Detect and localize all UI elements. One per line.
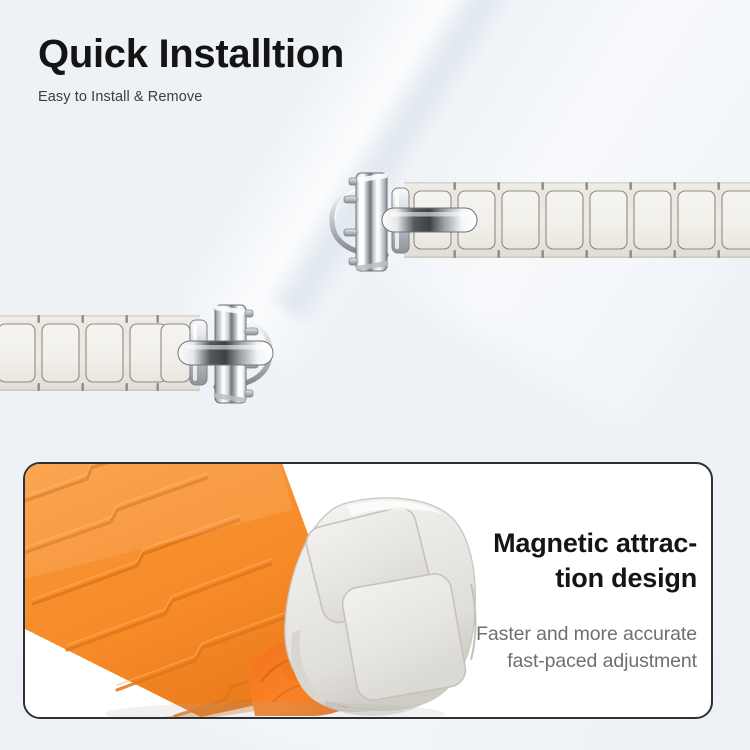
feature-subtitle-line-1: Faster and more accurate bbox=[476, 623, 697, 645]
product-marketing-poster: Quick Installtion Easy to Install & Remo… bbox=[0, 0, 750, 750]
magnetic-feature-panel: Magnetic attrac- tion design Faster and … bbox=[23, 462, 713, 719]
top-chrome-bar bbox=[382, 208, 477, 232]
top-band-assembly bbox=[332, 173, 750, 271]
page-title: Quick Installtion bbox=[38, 33, 344, 75]
feature-subtitle: Faster and more accurate fast-paced adju… bbox=[387, 621, 697, 676]
feature-title-line-2: tion design bbox=[555, 563, 697, 593]
feature-text-block: Magnetic attrac- tion design Faster and … bbox=[387, 526, 697, 676]
bottom-band-assembly bbox=[0, 305, 273, 403]
bottom-chrome-bar bbox=[178, 341, 273, 365]
header-block: Quick Installtion Easy to Install & Remo… bbox=[38, 33, 344, 105]
feature-subtitle-line-2: fast-paced adjustment bbox=[507, 650, 697, 672]
page-subtitle: Easy to Install & Remove bbox=[38, 89, 344, 105]
feature-title-line-1: Magnetic attrac- bbox=[493, 528, 697, 558]
feature-title: Magnetic attrac- tion design bbox=[387, 526, 697, 597]
bottom-strap bbox=[0, 315, 200, 391]
